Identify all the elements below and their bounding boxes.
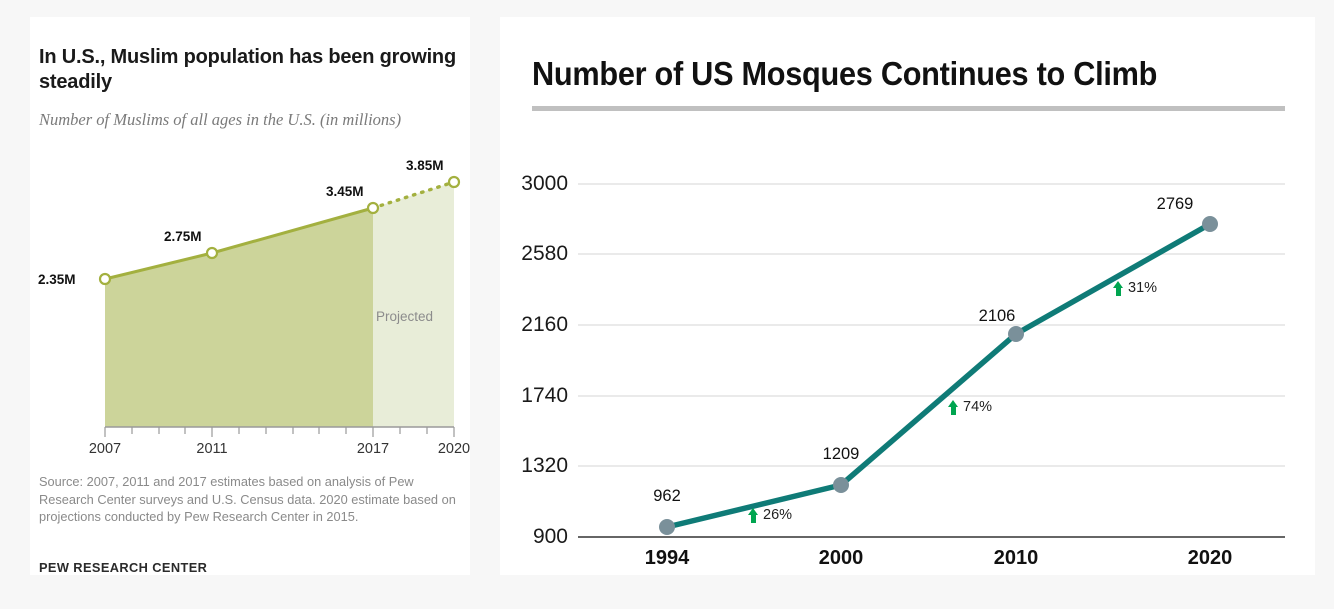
mosque-data-label-2020: 2769 (1130, 195, 1220, 214)
pew-area-chart-svg (30, 127, 470, 437)
pew-data-label-2011: 2.75M (164, 229, 202, 244)
pew-marker-2020 (449, 177, 459, 187)
mosque-chart-card: Number of US Mosques Continues to Climb (500, 17, 1315, 575)
mosque-growth-label-1: 26% (763, 507, 792, 523)
pew-area-historic (105, 208, 373, 427)
pew-footer-brand: PEW RESEARCH CENTER (39, 560, 207, 575)
mosque-ytick-2580: 2580 (500, 242, 568, 266)
pew-marker-2017 (368, 203, 378, 213)
pew-source-note: Source: 2007, 2011 and 2017 estimates ba… (39, 473, 464, 526)
pew-xtick-2020: 2020 (424, 441, 484, 457)
mosque-growth-1994-2000: 26% (748, 507, 792, 523)
pew-data-label-2007: 2.35M (38, 272, 76, 287)
pew-marker-2011 (207, 248, 217, 258)
mosque-ytick-1740: 1740 (500, 384, 568, 408)
mosque-ytick-2160: 2160 (500, 313, 568, 337)
title-divider-rule (532, 106, 1285, 111)
pew-data-label-2020: 3.85M (406, 158, 444, 173)
pew-data-label-2017: 3.45M (326, 184, 364, 199)
mosque-ytick-900: 900 (500, 525, 568, 549)
pew-xtick-2007: 2007 (75, 441, 135, 457)
mosque-chart-plot: 3000 2580 2160 1740 1320 900 962 1209 21… (500, 127, 1315, 575)
mosque-marker-1994 (659, 519, 675, 535)
arrow-up-icon (1113, 281, 1124, 296)
mosque-ytick-3000: 3000 (500, 172, 568, 196)
pew-xtick-2017: 2017 (343, 441, 403, 457)
pew-marker-2007 (100, 274, 110, 284)
mosque-xtick-1994: 1994 (617, 547, 717, 570)
pew-chart-plot: 2.35M 2.75M 3.45M 3.85M Projected 2007 2… (30, 127, 470, 437)
page-root: In U.S., Muslim population has been grow… (0, 0, 1334, 609)
mosque-ytick-1320: 1320 (500, 454, 568, 478)
mosque-data-label-2000: 1209 (796, 445, 886, 464)
mosque-growth-label-2: 74% (963, 399, 992, 415)
mosque-data-label-2010: 2106 (952, 307, 1042, 326)
mosque-marker-2020 (1202, 216, 1218, 232)
mosque-trend-line (667, 224, 1210, 527)
mosque-xtick-2010: 2010 (966, 547, 1066, 570)
mosque-marker-2000 (833, 477, 849, 493)
arrow-up-icon (748, 508, 759, 523)
pew-xtick-2011: 2011 (182, 441, 242, 457)
mosque-growth-label-3: 31% (1128, 280, 1157, 296)
pew-area-projected (373, 182, 454, 427)
mosque-data-label-1994: 962 (627, 487, 707, 506)
mosque-marker-2010 (1008, 326, 1024, 342)
mosque-xtick-2000: 2000 (791, 547, 891, 570)
mosque-growth-2010-2020: 31% (1113, 280, 1157, 296)
mosque-gridlines (578, 184, 1285, 466)
arrow-up-icon (948, 400, 959, 415)
pew-x-minor-ticks (105, 427, 454, 437)
mosque-xtick-2020: 2020 (1160, 547, 1260, 570)
mosque-growth-2000-2010: 74% (948, 399, 992, 415)
pew-chart-card: In U.S., Muslim population has been grow… (30, 17, 470, 575)
mosque-chart-title: Number of US Mosques Continues to Climb (532, 55, 1157, 93)
pew-projected-annotation: Projected (376, 309, 433, 324)
pew-chart-title: In U.S., Muslim population has been grow… (39, 45, 459, 95)
